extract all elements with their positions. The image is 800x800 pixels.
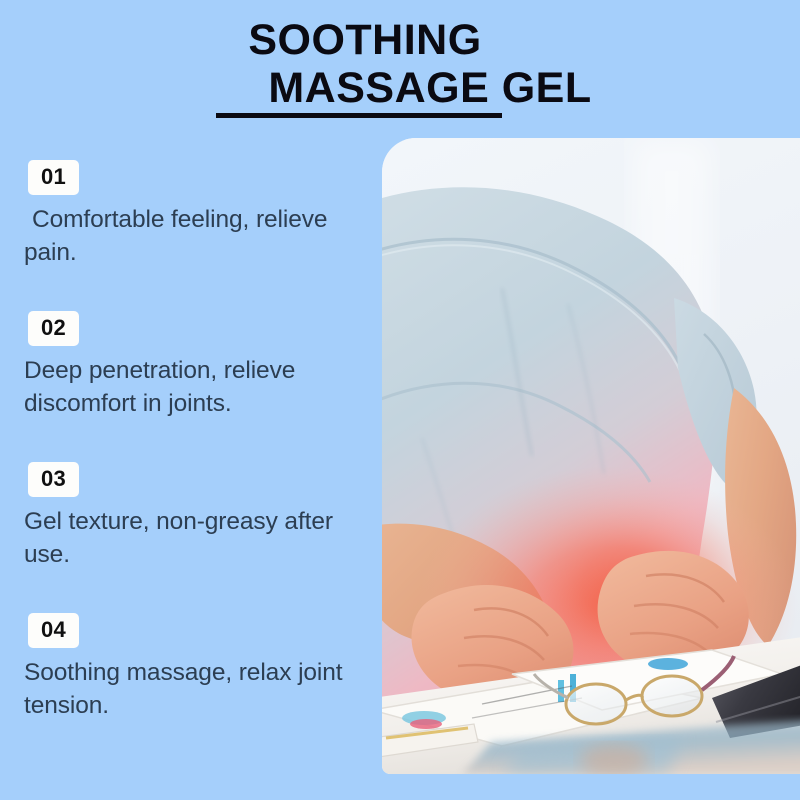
feature-text-03: Gel texture, non-greasy after use. xyxy=(24,506,369,571)
feature-number-badge-01: 01 xyxy=(28,160,79,195)
eyeglasses-lens-right xyxy=(642,676,702,716)
feature-item-04: 04 Soothing massage, relax joint tension… xyxy=(24,613,369,722)
feature-item-02: 02 Deep penetration, relieve discomfort … xyxy=(24,311,369,420)
paper-bar-1 xyxy=(558,680,564,702)
title-line-2-row: MASSAGE GEL xyxy=(0,64,800,112)
title-line-2-wrapper: MASSAGE GEL xyxy=(208,64,591,112)
paper-chart-mark-3 xyxy=(648,658,688,670)
poster-canvas: SOOTHING MASSAGE GEL 01 Comfortable feel… xyxy=(0,0,800,800)
product-lifestyle-photo xyxy=(382,138,800,774)
title-underline-rule xyxy=(216,113,502,118)
feature-list: 01 Comfortable feeling, relieve pain. 02… xyxy=(24,160,369,723)
feature-item-01: 01 Comfortable feeling, relieve pain. xyxy=(24,160,369,269)
title-line-1: SOOTHING xyxy=(0,16,800,64)
eyeglasses-lens-left xyxy=(566,684,626,724)
photo-illustration xyxy=(382,138,800,774)
feature-number-badge-02: 02 xyxy=(28,311,79,346)
feature-text-02: Deep penetration, relieve discomfort in … xyxy=(24,355,369,420)
feature-number-badge-04: 04 xyxy=(28,613,79,648)
feature-item-03: 03 Gel texture, non-greasy after use. xyxy=(24,462,369,571)
page-title: SOOTHING MASSAGE GEL xyxy=(0,16,800,112)
paper-chart-mark-2 xyxy=(410,719,442,729)
feature-text-01: Comfortable feeling, relieve pain. xyxy=(24,204,369,269)
feature-text-04: Soothing massage, relax joint tension. xyxy=(24,657,369,722)
feature-number-badge-03: 03 xyxy=(28,462,79,497)
title-line-2: MASSAGE GEL xyxy=(268,64,591,112)
